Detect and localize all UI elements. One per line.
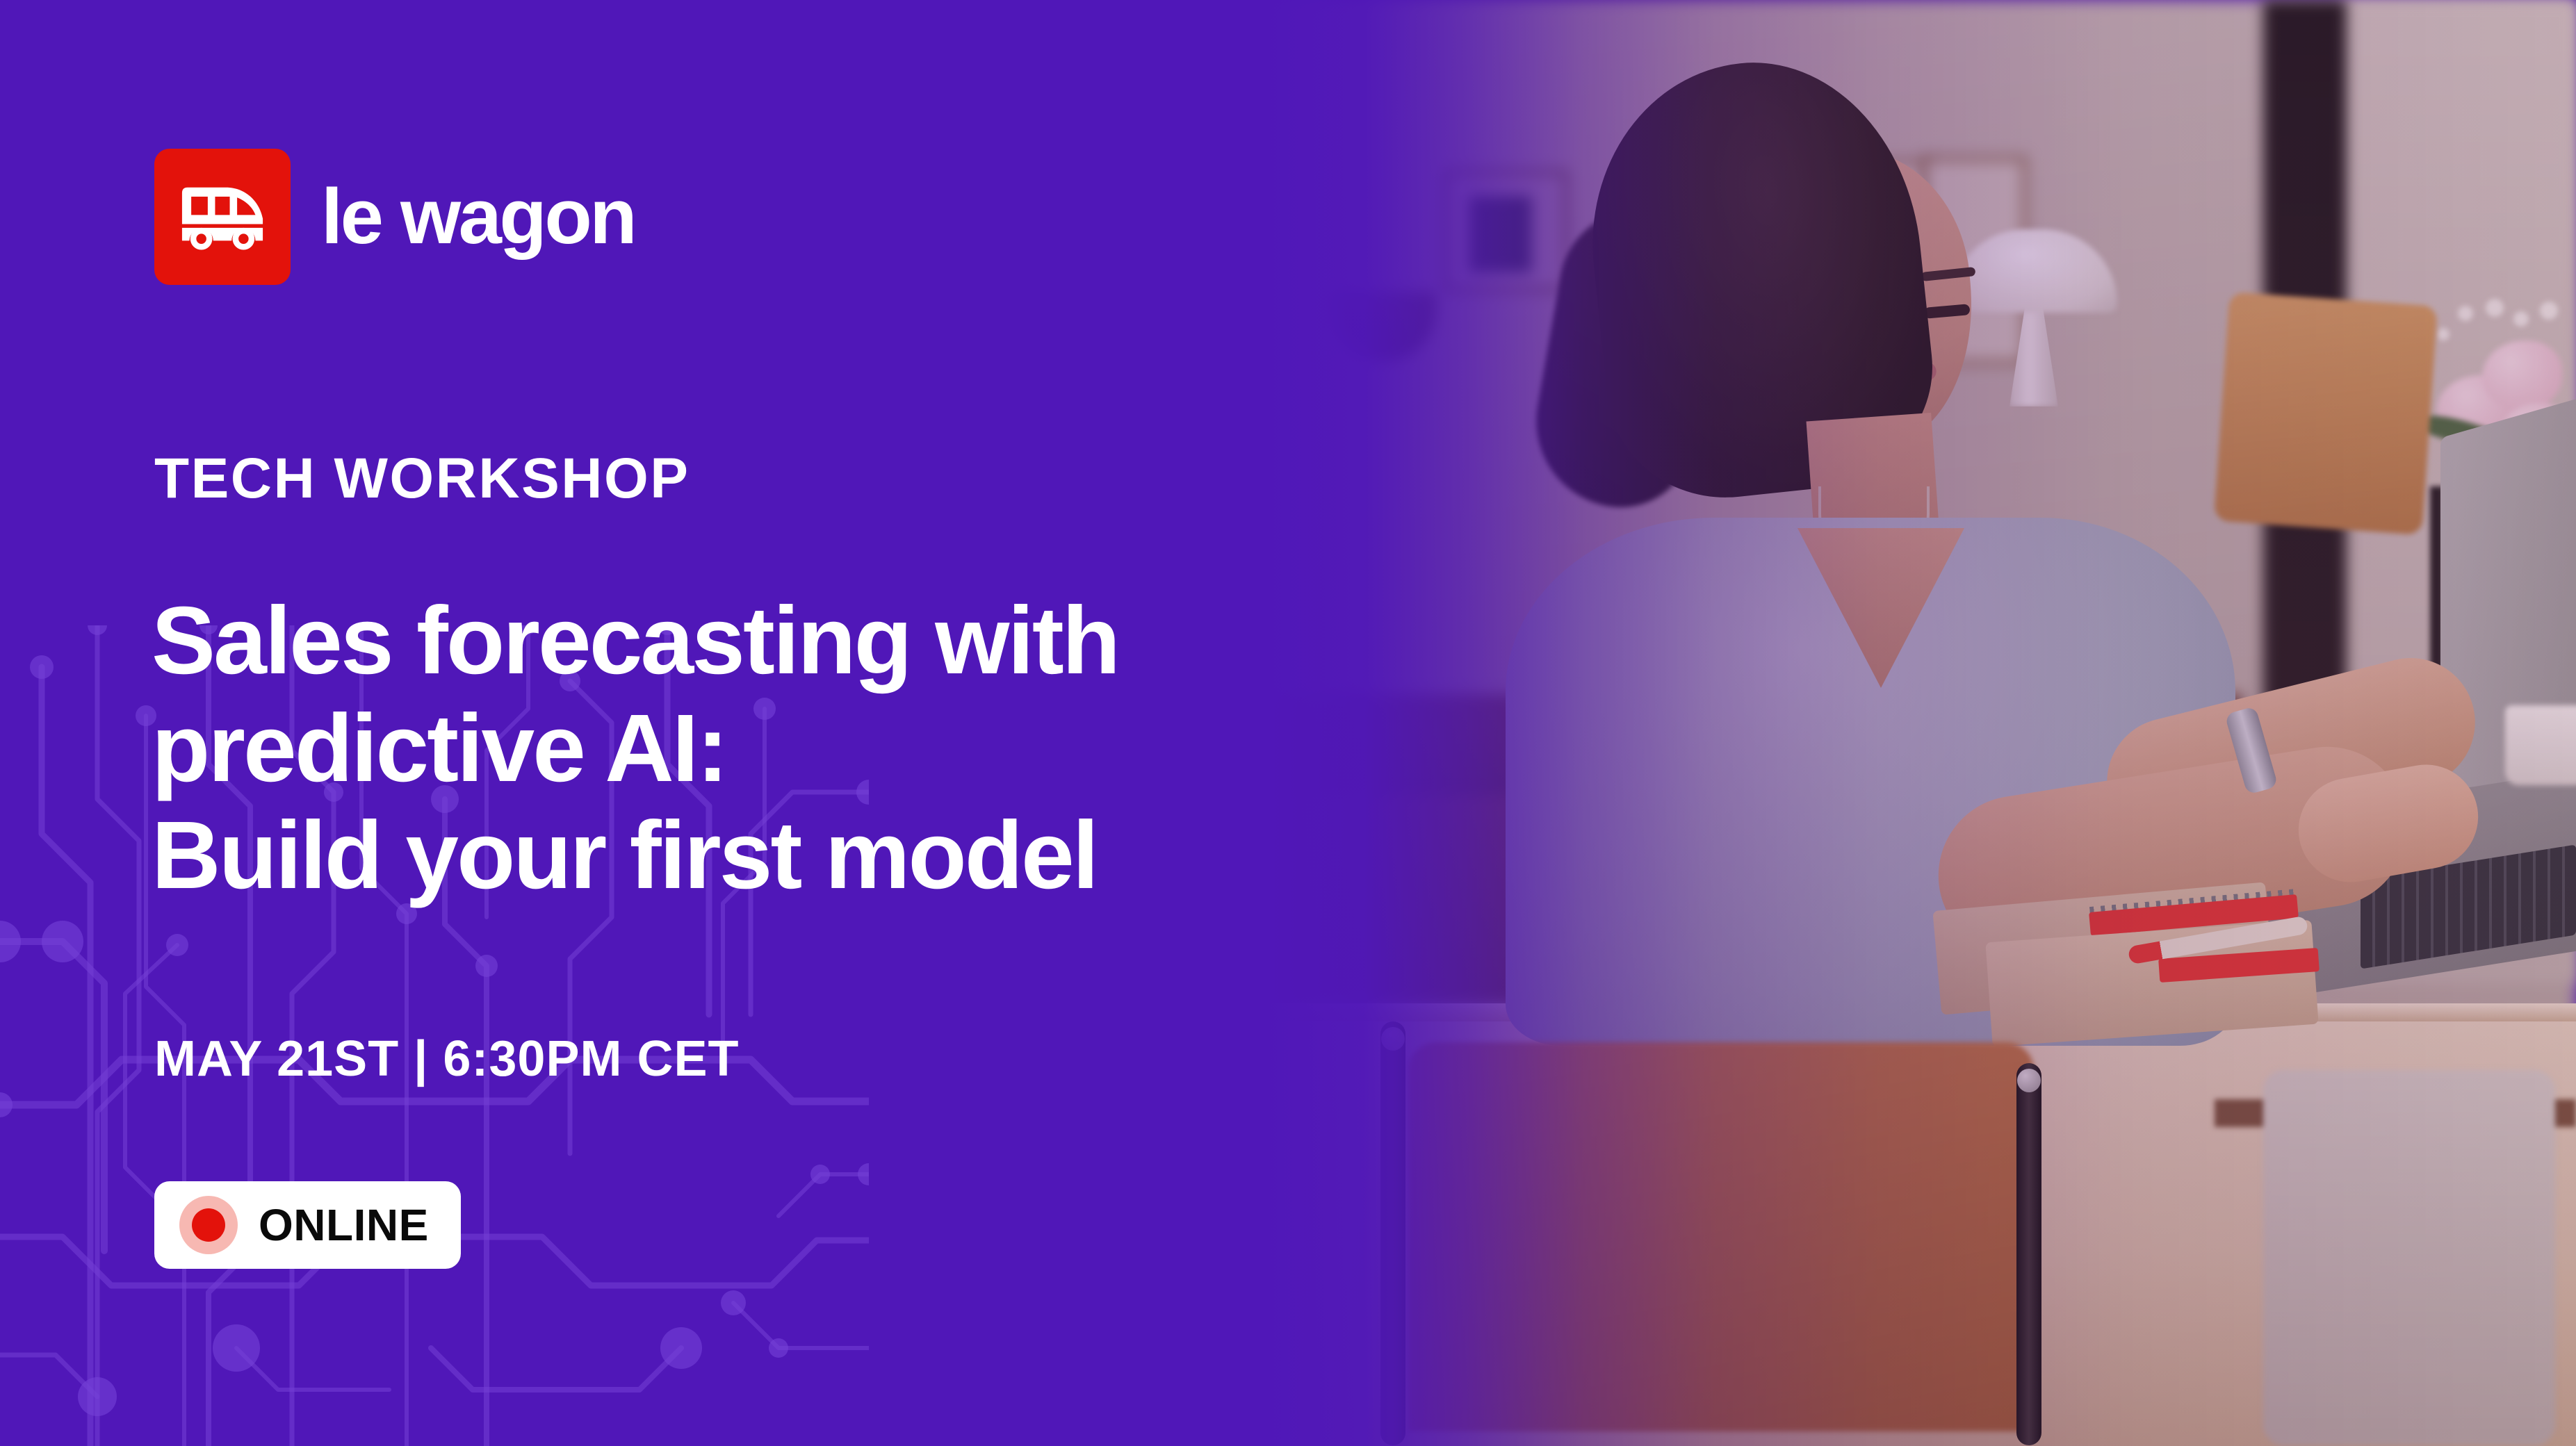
headline-line-2: predictive AI: xyxy=(152,695,1118,803)
status-badge: ONLINE xyxy=(154,1181,461,1269)
banner-content: le wagon TECH WORKSHOP Sales forecasting… xyxy=(0,0,1321,1446)
live-dot-icon xyxy=(179,1196,238,1254)
status-badge-label: ONLINE xyxy=(259,1199,429,1251)
headline-line-3: Build your first model xyxy=(152,802,1118,910)
hero-photo xyxy=(1116,0,2576,1446)
eyebrow-label: TECH WORKSHOP xyxy=(154,450,690,507)
photo-purple-fade xyxy=(1116,0,2576,1446)
brand-name: le wagon xyxy=(321,178,635,256)
page-title: Sales forecasting with predictive AI: Bu… xyxy=(152,587,1118,910)
headline-line-1: Sales forecasting with xyxy=(152,587,1118,695)
wagon-bus-icon xyxy=(154,149,291,285)
brand-logo[interactable]: le wagon xyxy=(154,149,635,285)
workshop-promo-banner: le wagon TECH WORKSHOP Sales forecasting… xyxy=(0,0,2576,1446)
event-datetime: MAY 21ST | 6:30PM CET xyxy=(154,1034,739,1084)
